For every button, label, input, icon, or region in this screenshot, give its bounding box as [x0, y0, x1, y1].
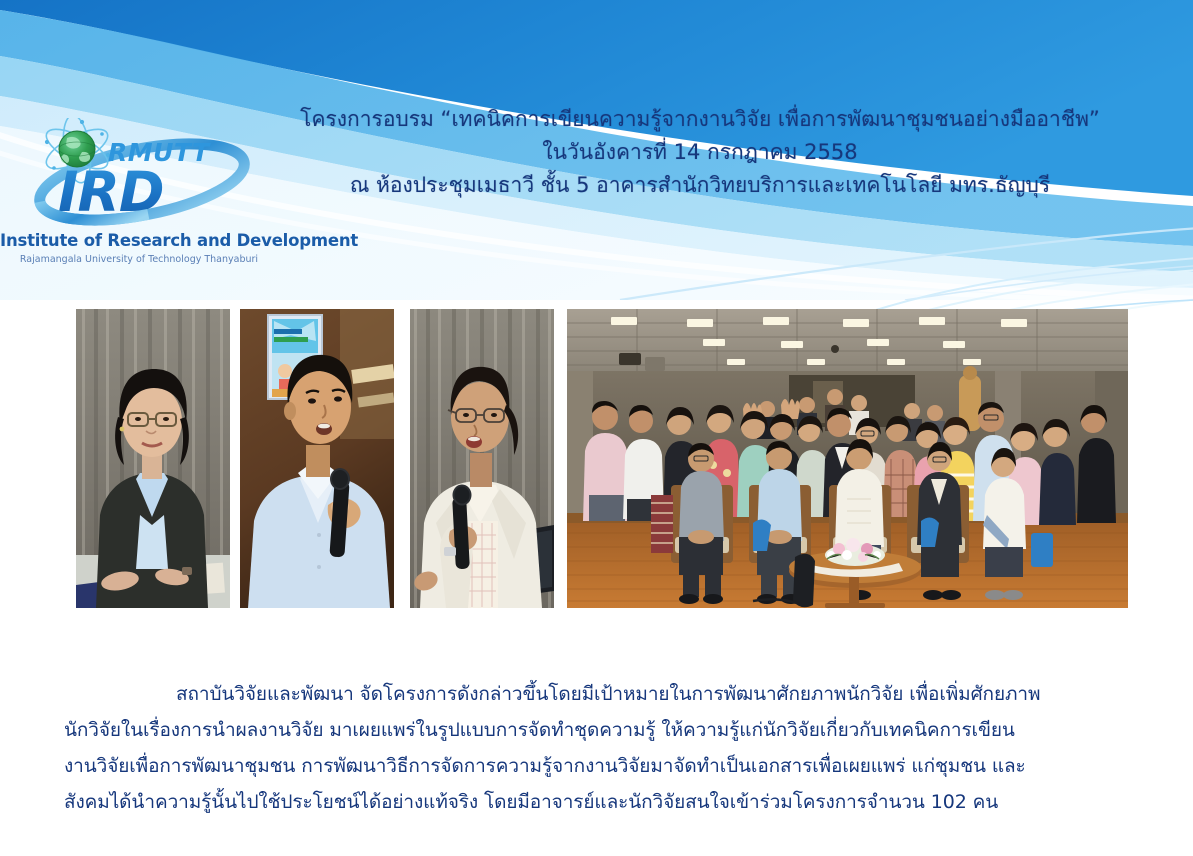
university-name: Rajamangala University of Technology Tha… [0, 254, 278, 265]
activity-report-page: RMUTT IRD Institute of Research and Deve… [0, 0, 1193, 856]
photo-woman-speaker-microphone [410, 309, 554, 608]
photo-woman-at-desk [76, 309, 230, 608]
title-line-1: โครงการอบรม “เทคนิคการเขียนความรู้จากงาน… [275, 103, 1125, 136]
paragraph-line-1: สถาบันวิจัยและพัฒนา จัดโครงการดังกล่าวขึ… [64, 676, 1134, 712]
paragraph-line-4: สังคมได้นำความรู้นั้นไปใช้ประโยชน์ได้อย่… [64, 784, 1134, 820]
paragraph-line-3: งานวิจัยเพื่อการพัฒนาชุมชน การพัฒนาวิธีก… [64, 748, 1134, 784]
photo-strip [76, 309, 1128, 608]
photo-group-participants [567, 309, 1128, 608]
logo-mark-icon: RMUTT IRD [22, 118, 262, 230]
title-line-2: ในวันอังคารที่ 14 กรกฎาคม 2558 [275, 136, 1125, 169]
paragraph-line-2: นักวิจัยในเรื่องการนำผลงานวิจัย มาเผยแพร… [64, 712, 1134, 748]
ird-rmutt-logo: RMUTT IRD Institute of Research and Deve… [0, 118, 278, 276]
title-line-3: ณ ห้องประชุมเมธาวี ชั้น 5 อาคารสำนักวิทย… [275, 169, 1125, 202]
institute-name: Institute of Research and Development [0, 231, 278, 250]
activity-description-paragraph: สถาบันวิจัยและพัฒนา จัดโครงการดังกล่าวขึ… [64, 676, 1134, 820]
event-header-title: โครงการอบรม “เทคนิคการเขียนความรู้จากงาน… [275, 103, 1125, 202]
photo-man-with-microphone [240, 309, 394, 608]
